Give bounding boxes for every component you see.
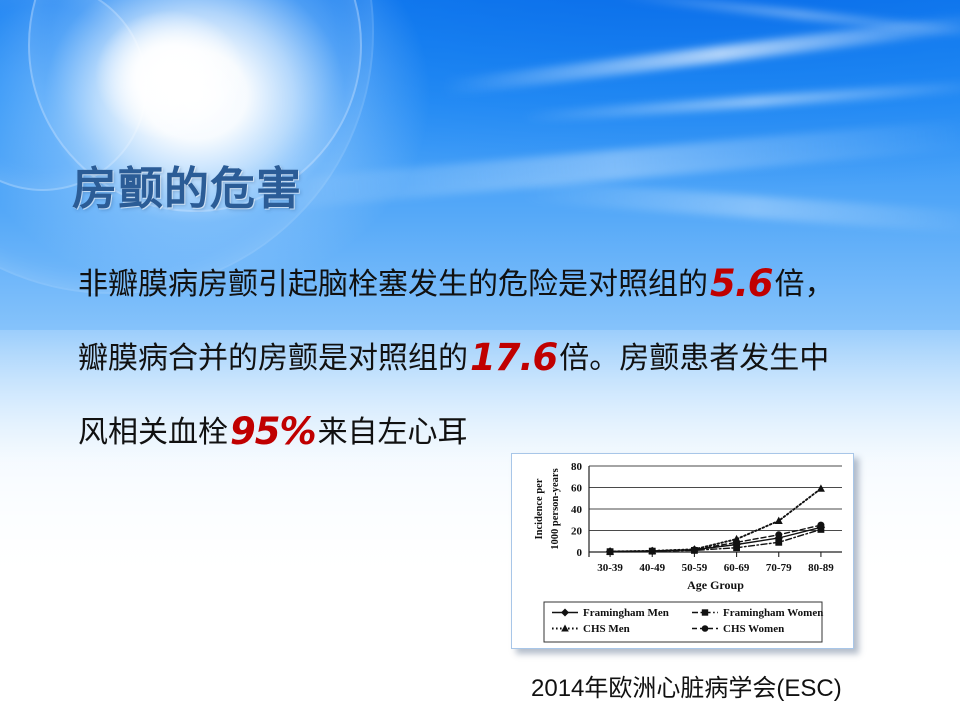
body-line-1: 非瓣膜病房颤引起脑栓塞发生的危险是对照组的 5.6 倍， [78,248,908,322]
svg-text:40-49: 40-49 [639,562,665,574]
stat-value-5-6: 5.6 [708,265,775,302]
svg-text:Framingham Women: Framingham Women [723,607,823,619]
svg-text:Age Group: Age Group [687,578,744,592]
svg-text:40: 40 [571,504,583,516]
svg-text:60-69: 60-69 [724,562,750,574]
svg-text:Incidence per: Incidence per [534,478,545,539]
svg-text:70-79: 70-79 [766,562,792,574]
slide-canvas: 房颤的危害 非瓣膜病房颤引起脑栓塞发生的危险是对照组的 5.6 倍， 瓣膜病合并… [0,0,960,720]
svg-text:80: 80 [571,461,583,473]
svg-text:CHS Men: CHS Men [583,623,630,635]
svg-text:CHS Women: CHS Women [723,623,784,635]
incidence-line-chart: 02040608030-3940-4950-5960-6970-7980-89A… [512,454,853,648]
chart-source-caption: 2014年欧洲心脏病学会(ESC) [531,668,842,703]
svg-text:30-39: 30-39 [597,562,623,574]
body-line-2: 瓣膜病合并的房颤是对照组的 17.6 倍。房颤患者发生中 [78,322,908,396]
body-line-1-pre: 非瓣膜病房颤引起脑栓塞发生的危险是对照组的 [78,270,708,300]
svg-text:Framingham Men: Framingham Men [583,607,669,619]
body-text-block: 非瓣膜病房颤引起脑栓塞发生的危险是对照组的 5.6 倍， 瓣膜病合并的房颤是对照… [78,248,908,470]
svg-text:0: 0 [577,547,583,559]
svg-text:80-89: 80-89 [808,562,834,574]
svg-text:50-59: 50-59 [682,562,708,574]
stat-value-17-6: 17.6 [468,339,559,376]
svg-text:1000 person-years: 1000 person-years [550,468,561,549]
body-line-2-post: 倍。房颤患者发生中 [559,344,829,374]
page-title: 房颤的危害 [72,152,302,217]
body-line-1-post: 倍， [775,270,835,300]
body-line-3-post: 来自左心耳 [318,418,468,448]
stat-value-95-percent: 95% [228,413,318,450]
svg-text:20: 20 [571,526,583,538]
svg-text:60: 60 [571,483,583,495]
body-line-2-pre: 瓣膜病合并的房颤是对照组的 [78,344,468,374]
chart-image-panel: 02040608030-3940-4950-5960-6970-7980-89A… [511,453,854,649]
body-line-3-pre: 风相关血栓 [78,418,228,448]
chart-svg: 02040608030-3940-4950-5960-6970-7980-89A… [512,454,853,648]
